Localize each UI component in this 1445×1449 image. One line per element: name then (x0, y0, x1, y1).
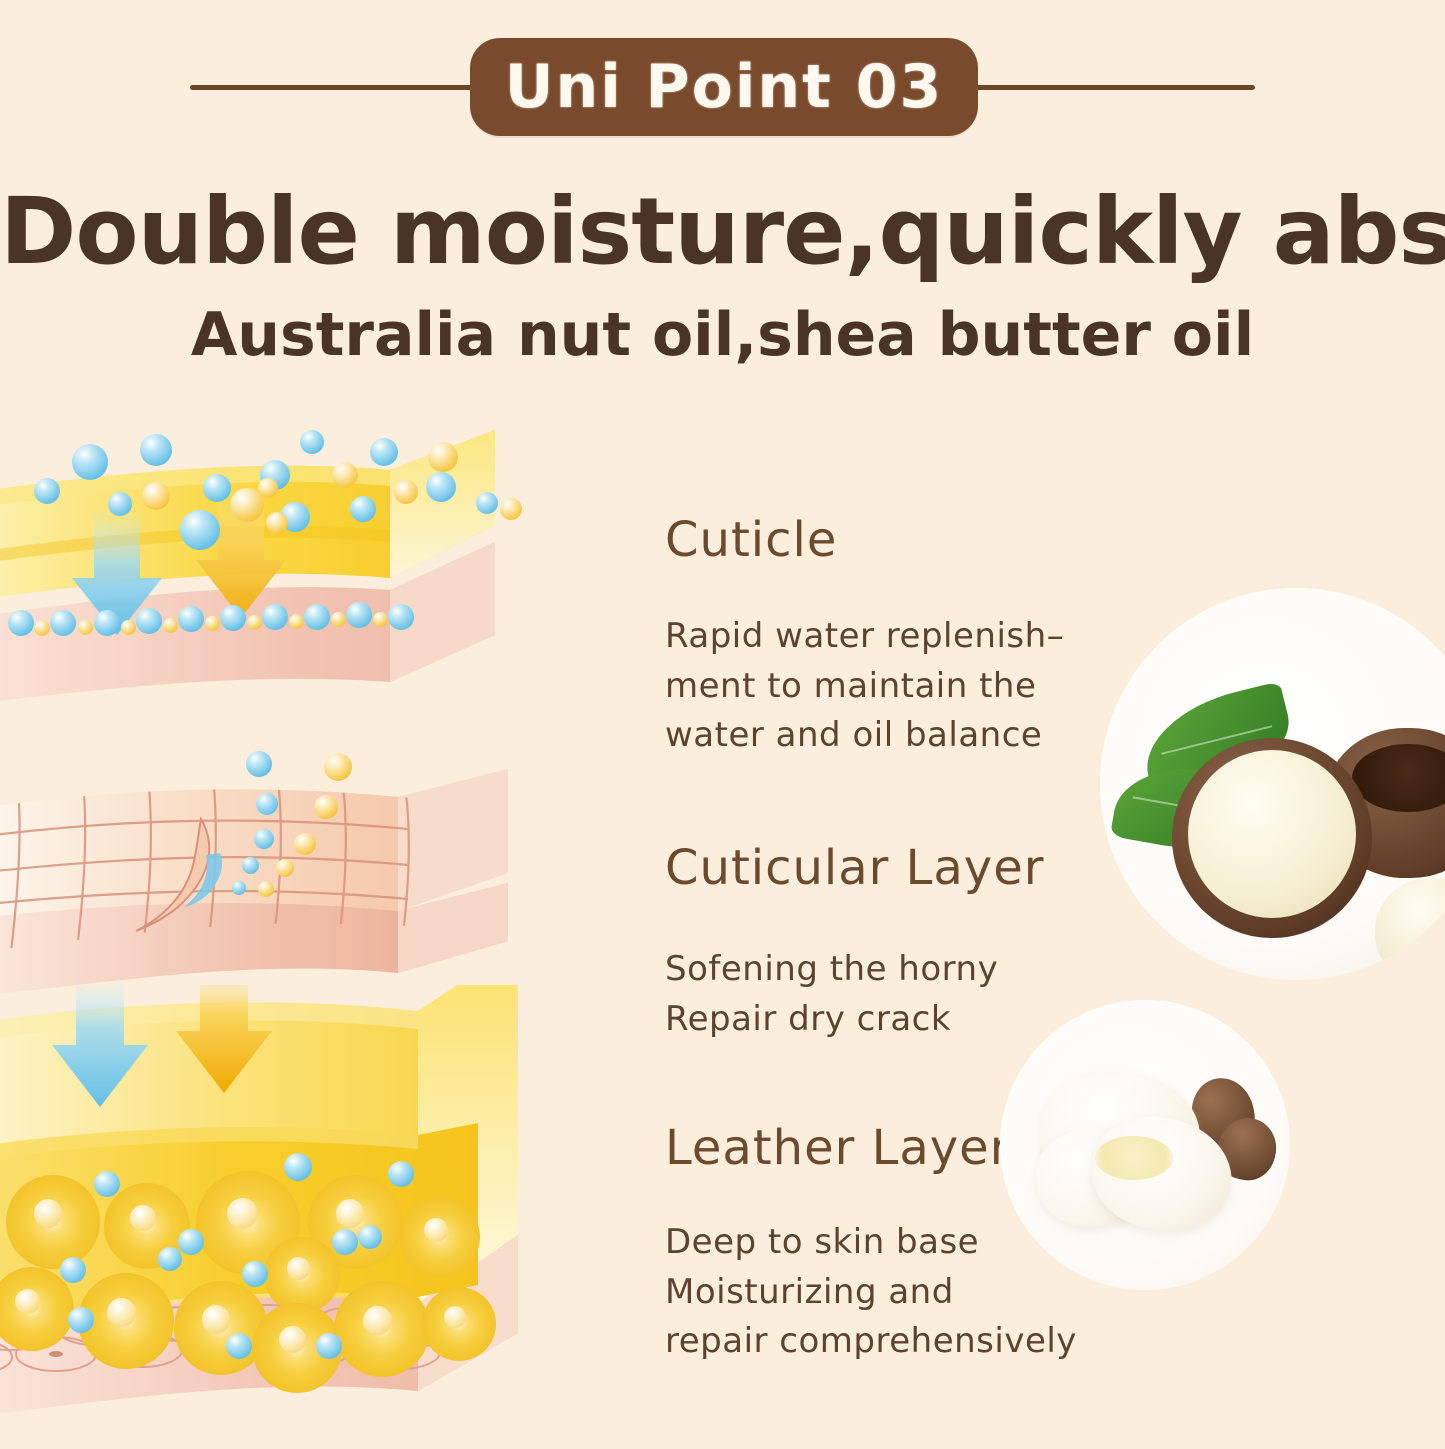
oil-bubble (324, 753, 352, 781)
lipid-cell (6, 1175, 100, 1269)
water-bubble (370, 438, 398, 466)
water-bubble (232, 881, 246, 895)
cuticular-diagram-svg (0, 745, 608, 1005)
water-bubble (108, 492, 132, 516)
page-subtitle: Australia nut oil,shea butter oil (0, 300, 1445, 370)
section-heading-cuticle: Cuticle (665, 512, 837, 568)
shea-butter-photo (1000, 1000, 1290, 1290)
macadamia-nut-photo (1100, 588, 1445, 980)
uni-point-badge: Uni Point 03 (470, 38, 978, 136)
section-body-cuticle: Rapid water replenish– ment to maintain … (665, 612, 1064, 761)
infographic-page: Uni Point 03 Double moisture,quickly abs… (0, 0, 1445, 1445)
oil-bubble (266, 512, 288, 534)
water-bubble (68, 1307, 94, 1333)
uni-point-badge-label: Uni Point 03 (505, 52, 943, 122)
water-bubble (158, 1247, 182, 1271)
section-heading-leather-layer: Leather Layer (665, 1120, 1010, 1176)
oil-bubble (276, 859, 294, 877)
water-bubble (246, 751, 272, 777)
section-heading-cuticular-layer: Cuticular Layer (665, 840, 1044, 896)
absorbed-water-bubble (8, 610, 34, 636)
absorbed-water-bubble (262, 604, 288, 630)
header-rule-left (190, 85, 490, 90)
lipid-cell (264, 1237, 340, 1313)
water-bubble (476, 492, 498, 514)
absorbed-oil-bubble (34, 620, 50, 636)
absorbed-water-bubble (304, 604, 330, 630)
absorbed-water-bubble (136, 608, 162, 634)
oil-bubble (428, 442, 458, 472)
water-bubble (256, 793, 278, 815)
cuticular-layer-diagram (0, 745, 608, 1005)
lipid-cell (400, 1197, 480, 1277)
water-bubble (332, 1229, 358, 1255)
water-bubble (242, 1261, 268, 1287)
absorbed-water-bubble (178, 606, 204, 632)
oil-bubble (142, 482, 170, 510)
oil-bubble (258, 478, 278, 498)
oil-bubble (314, 795, 338, 819)
page-title: Double moisture,quickly absorb (0, 178, 1445, 285)
absorbed-oil-bubble (247, 615, 262, 630)
water-bubble (72, 444, 108, 480)
oil-bubble (294, 833, 316, 855)
macadamia-kernel (1188, 750, 1356, 918)
shea-butter-sheen (1095, 1136, 1173, 1180)
absorbed-oil-bubble (373, 612, 388, 627)
lipid-cell (334, 1281, 430, 1377)
absorbed-oil-bubble (163, 618, 178, 633)
leather-layer-diagram (0, 985, 618, 1445)
water-bubble (316, 1333, 342, 1359)
water-bubble (34, 478, 60, 504)
oil-bubble (258, 881, 274, 897)
water-bubble (60, 1257, 86, 1283)
water-bubble (140, 434, 172, 466)
water-bubble (426, 472, 456, 502)
water-bubble (350, 496, 376, 522)
water-bubble (254, 829, 274, 849)
oil-bubble (332, 462, 358, 488)
water-bubble (300, 430, 324, 454)
absorbed-oil-bubble (205, 616, 220, 631)
oil-bubble (394, 480, 418, 504)
water-bubble (388, 1161, 414, 1187)
absorbed-water-bubble (220, 605, 246, 631)
absorbed-water-bubble (388, 604, 414, 630)
water-bubble (94, 1171, 120, 1197)
water-bubble (203, 474, 231, 502)
oil-bubble (500, 498, 522, 520)
water-bubble (242, 857, 259, 874)
absorbed-oil-bubble (121, 620, 136, 635)
absorbed-oil-bubble (331, 612, 346, 627)
water-bubble (358, 1225, 382, 1249)
absorbed-water-bubble (50, 610, 76, 636)
header-rule-right (955, 85, 1255, 90)
lipid-cell (422, 1287, 496, 1361)
cuticle-skin-diagram (0, 430, 610, 710)
absorbed-oil-bubble (289, 614, 304, 629)
absorbed-water-bubble (346, 602, 372, 628)
water-bubble (178, 1229, 204, 1255)
water-bubble (180, 510, 220, 550)
absorbed-oil-bubble (78, 620, 93, 635)
section-body-cuticular-layer: Sofening the horny Repair dry crack (665, 945, 998, 1044)
water-bubble (226, 1333, 252, 1359)
water-bubble (284, 1153, 312, 1181)
absorbed-water-bubble (94, 610, 120, 636)
